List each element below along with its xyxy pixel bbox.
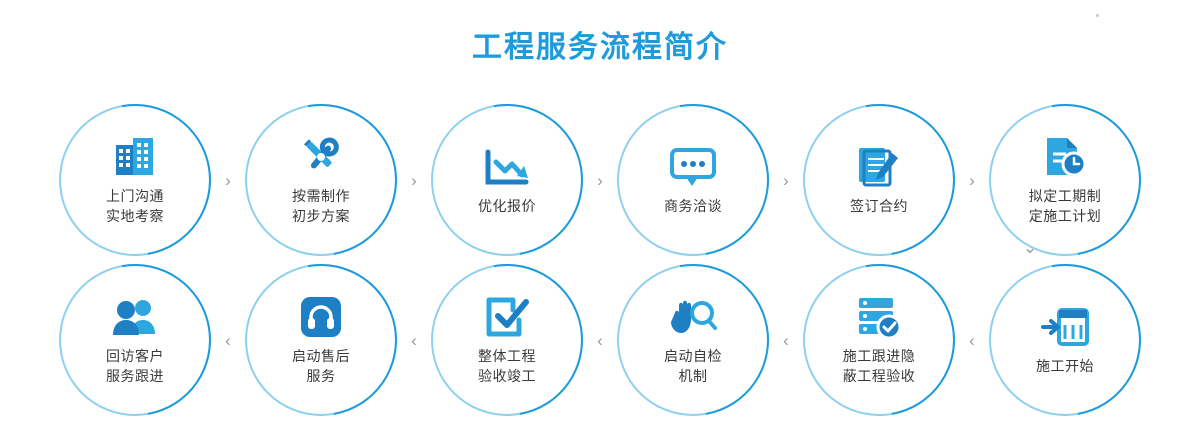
chat-bubble-icon [666,144,720,190]
flow-node-label: 上门沟通 实地考察 [106,186,164,226]
flow-node-business-negotiation[interactable]: 商务洽谈 [617,104,769,256]
node-ring-accent [959,74,1171,286]
flow-node-label: 商务洽谈 [664,196,722,216]
chart-down-icon [480,144,534,190]
flow-node-self-inspection[interactable]: 启动自检 机制 [617,264,769,416]
node-ring-accent [29,234,241,446]
users-icon [108,294,162,340]
node-ring-accent [587,234,799,446]
calendar-start-icon [1038,304,1092,350]
arrow-right-1: › [211,172,245,189]
flow-node-after-sales[interactable]: 启动售后 服务 [245,264,397,416]
arrow-left-3: ‹ [583,332,617,349]
arrow-right-5: › [955,172,989,189]
decorative-speck [1096,14,1099,17]
server-check-icon [852,294,906,340]
building-icon [108,134,162,180]
arrow-right-3: › [583,172,617,189]
flow-node-project-acceptance[interactable]: 整体工程 验收竣工 [431,264,583,416]
flow-node-sign-contract[interactable]: 签订合约 [803,104,955,256]
node-ring-accent [401,234,613,446]
flow-node-optimize-quote[interactable]: 优化报价 [431,104,583,256]
arrow-right-2: › [397,172,431,189]
node-ring-accent [215,74,427,286]
node-ring-accent [29,74,241,286]
contract-pen-icon [852,144,906,190]
flow-node-label: 拟定工期制 定施工计划 [1029,186,1102,226]
flow-node-label: 施工跟进隐 蔽工程验收 [843,346,916,386]
flow-node-on-site-communication[interactable]: 上门沟通 实地考察 [59,104,211,256]
flow-node-concealed-acceptance[interactable]: 施工跟进隐 蔽工程验收 [803,264,955,416]
flow-node-label: 回访客户 服务跟进 [106,346,164,386]
flow-node-label: 整体工程 验收竣工 [478,346,536,386]
flow-node-preliminary-plan[interactable]: 按需制作 初步方案 [245,104,397,256]
flow-node-customer-followup[interactable]: 回访客户 服务跟进 [59,264,211,416]
flow-node-label: 启动售后 服务 [292,346,350,386]
arrow-left-4: ‹ [769,332,803,349]
flow-row-bottom: 回访客户 服务跟进 ‹ 启动售后 服务 ‹ 整体工程 验收竣工 ‹ [0,260,1200,420]
flow-node-label: 按需制作 初步方案 [292,186,350,226]
arrow-left-2: ‹ [397,332,431,349]
arrow-left-5: ‹ [955,332,989,349]
flow-node-label: 启动自检 机制 [664,346,722,386]
node-ring-accent [215,234,427,446]
flow-node-construction-start[interactable]: 施工开始 [989,264,1141,416]
document-clock-icon [1038,134,1092,180]
flow-node-label: 优化报价 [478,196,536,216]
arrow-left-1: ‹ [211,332,245,349]
arrow-right-4: › [769,172,803,189]
tools-icon [294,134,348,180]
checkbox-icon [480,294,534,340]
headset-icon [294,294,348,340]
node-ring-accent [773,234,985,446]
hand-search-icon [666,294,720,340]
flow-node-label: 施工开始 [1036,356,1094,376]
flow-node-label: 签订合约 [850,196,908,216]
page-title: 工程服务流程简介 [0,22,1200,66]
